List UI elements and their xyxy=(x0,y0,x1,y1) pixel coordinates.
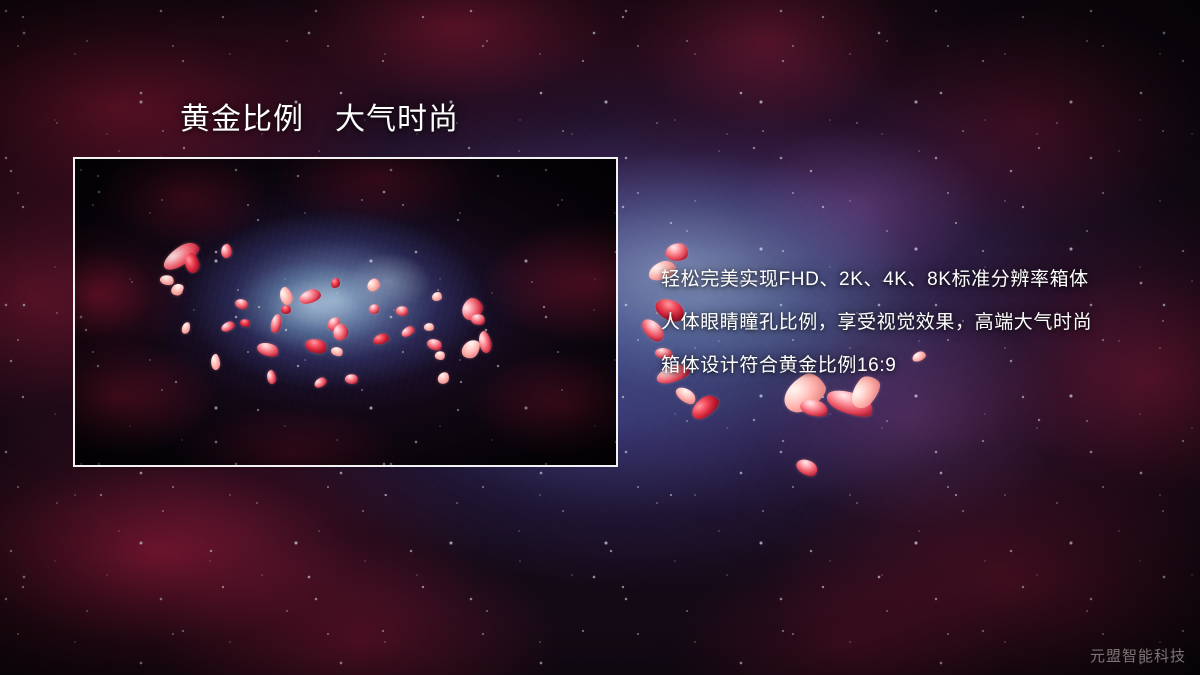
inner-nebula-red xyxy=(75,159,616,465)
inner-nebula-core xyxy=(75,159,616,465)
petal-shape xyxy=(368,303,380,315)
petal-shape xyxy=(255,339,280,359)
petal-shape xyxy=(457,295,486,324)
petal-shape xyxy=(331,278,340,288)
slide-title: 黄金比例 大气时尚 xyxy=(180,103,459,137)
petal-shape xyxy=(432,292,442,301)
body-line-3: 箱体设计符合黄金比例16:9 xyxy=(661,344,1181,387)
petal-shape xyxy=(210,353,221,370)
inner-starfield-medium xyxy=(75,159,616,465)
petal-shape xyxy=(280,304,292,315)
petal-shape xyxy=(476,330,494,354)
petal-shape xyxy=(459,336,483,361)
petal-shape xyxy=(313,376,328,389)
petal-shape xyxy=(159,238,203,274)
petal-shape xyxy=(270,313,283,333)
petal-shape xyxy=(326,315,342,332)
petal-shape xyxy=(437,371,450,385)
petal-shape xyxy=(220,243,234,259)
petal-shape xyxy=(395,304,410,318)
body-line-2: 人体眼睛瞳孔比例，享受视觉效果，高端大气时尚 xyxy=(661,301,1181,344)
petal-shape xyxy=(181,321,191,334)
petal-shape xyxy=(400,325,416,339)
petal-shape xyxy=(265,369,278,385)
inner-starfield-small xyxy=(75,159,616,465)
petal-shape xyxy=(330,345,345,358)
presentation-slide: 黄金比例 大气时尚 轻松完美实现FHD、2K、4K、8K标准分辨率箱体 人体眼睛… xyxy=(0,0,1200,675)
petal-shape xyxy=(303,336,328,357)
inner-nebula-base xyxy=(75,159,616,465)
petal-shape xyxy=(434,349,447,361)
slide-body-text: 轻松完美实现FHD、2K、4K、8K标准分辨率箱体 人体眼睛瞳孔比例，享受视觉效… xyxy=(661,258,1181,387)
petal-shape xyxy=(425,336,443,353)
inner-starfield-bright xyxy=(75,159,616,465)
petal-shape xyxy=(233,297,249,312)
petal-shape xyxy=(182,251,202,275)
petal-shape xyxy=(673,383,698,407)
framed-product-image[interactable] xyxy=(73,157,618,467)
petal-shape xyxy=(423,322,434,332)
petal-shape xyxy=(365,277,381,293)
petal-shape xyxy=(298,288,322,306)
petal-shape xyxy=(169,281,186,298)
petal-shape xyxy=(277,285,295,306)
inner-nebula-filaments xyxy=(75,159,616,465)
petal-shape xyxy=(824,384,877,422)
petal-shape xyxy=(159,273,175,287)
petal-shape xyxy=(798,396,830,420)
petal-shape xyxy=(331,322,350,342)
company-watermark: 元盟智能科技 xyxy=(1090,645,1186,666)
petal-shape xyxy=(239,317,251,328)
inner-vignette xyxy=(75,159,616,465)
petal-shape xyxy=(470,312,487,327)
inner-petal-group xyxy=(75,159,616,465)
petal-shape xyxy=(372,332,390,345)
petal-shape xyxy=(220,320,236,333)
petal-shape xyxy=(794,455,821,480)
petal-shape xyxy=(688,391,723,423)
petal-shape xyxy=(344,373,359,386)
body-line-1: 轻松完美实现FHD、2K、4K、8K标准分辨率箱体 xyxy=(661,258,1181,301)
